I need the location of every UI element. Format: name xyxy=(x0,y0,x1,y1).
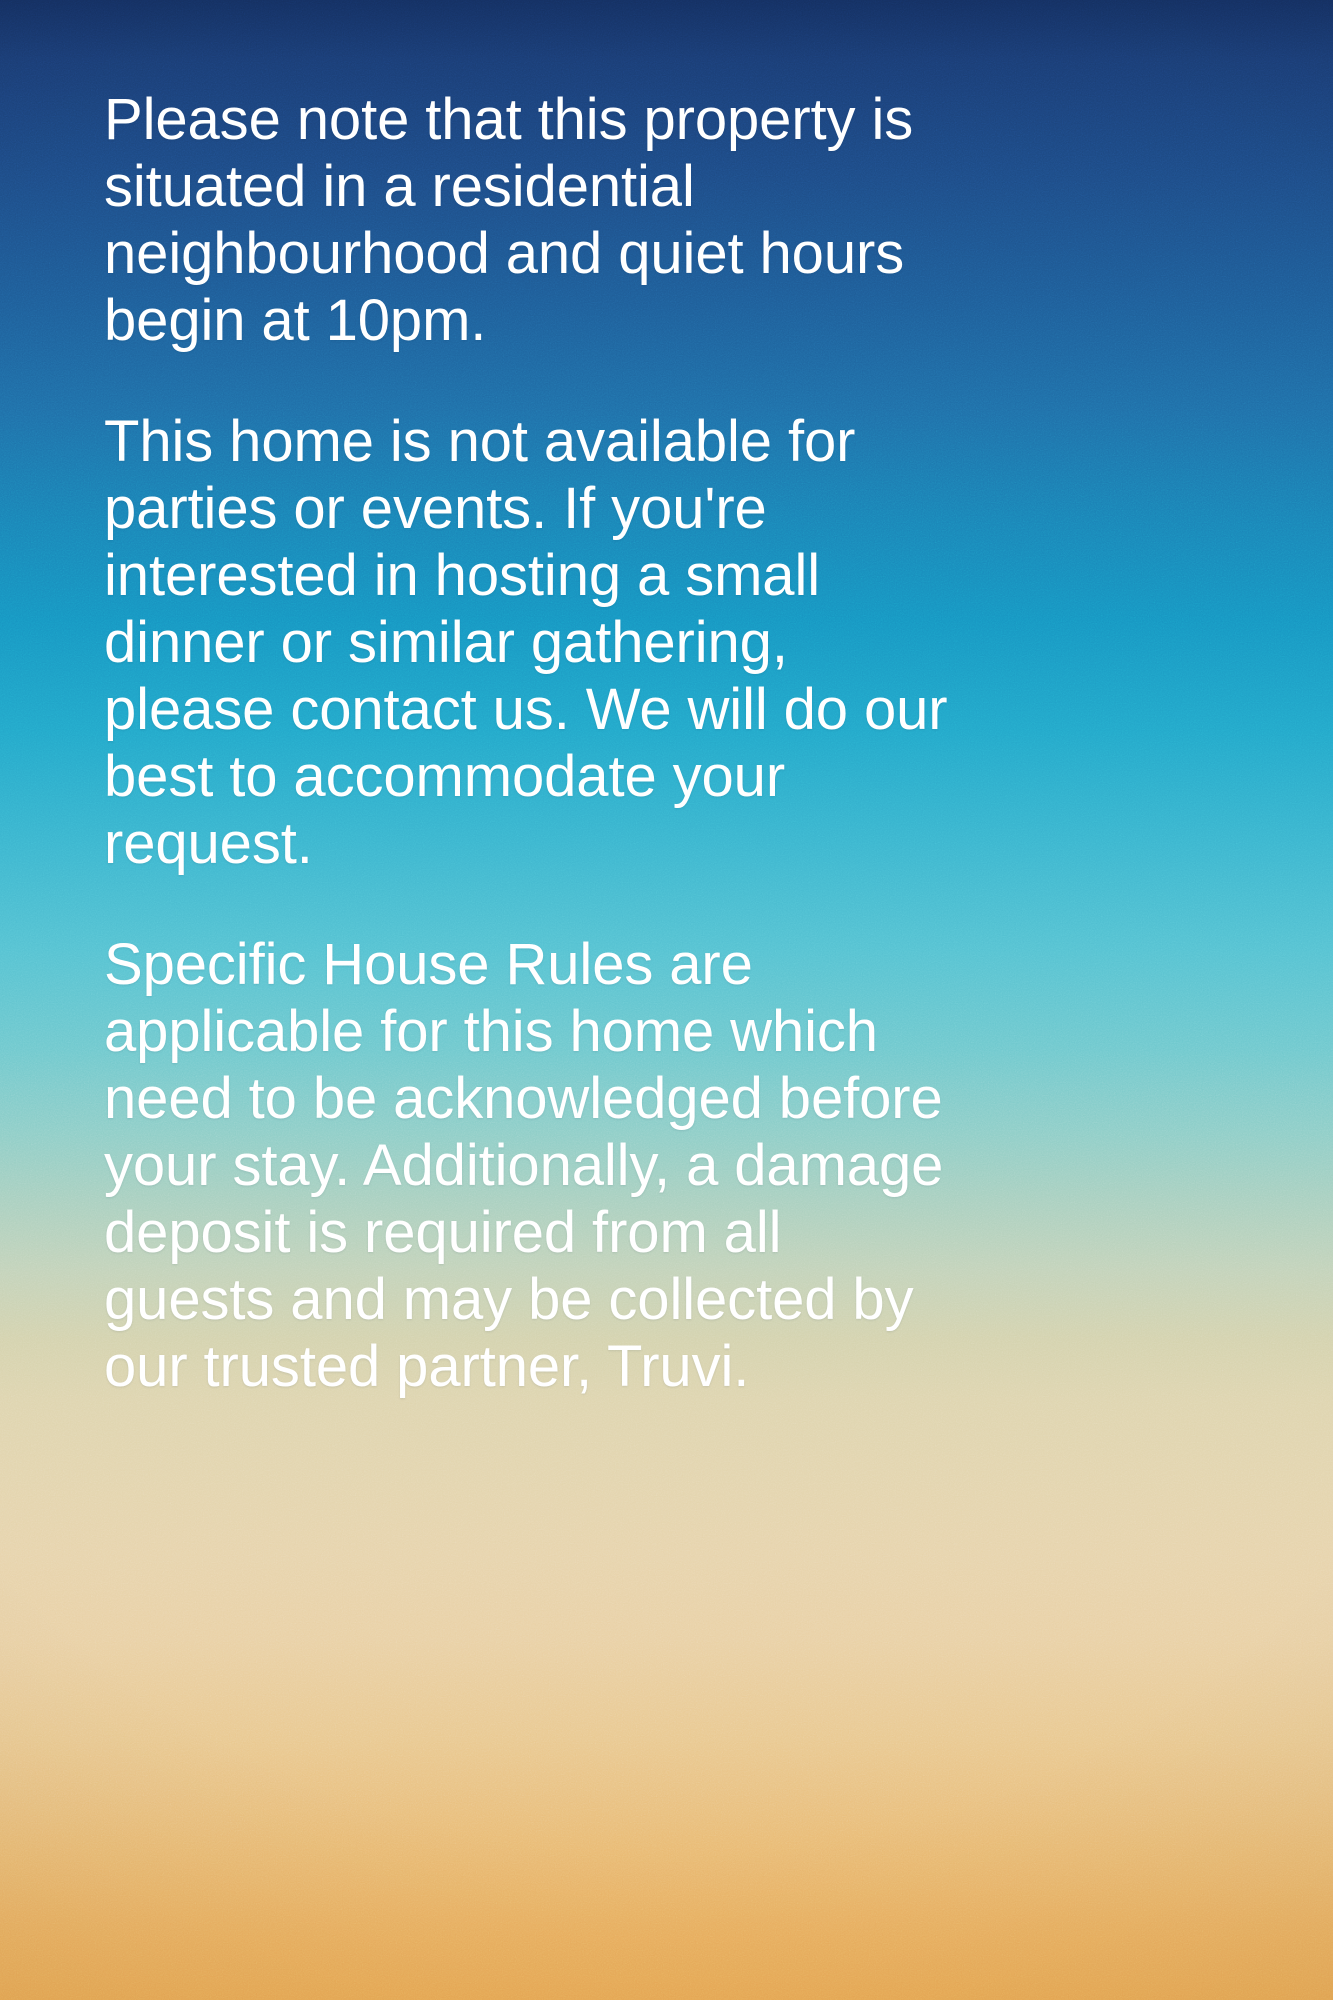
paragraph-quiet-hours: Please note that this property is situat… xyxy=(104,86,964,354)
paragraph-house-rules-deposit: Specific House Rules are applicable for … xyxy=(104,931,964,1400)
paragraph-no-parties: This home is not available for parties o… xyxy=(104,408,964,877)
house-rules-notice-card: Please note that this property is situat… xyxy=(0,0,1333,2000)
notice-text-block: Please note that this property is situat… xyxy=(104,86,964,1400)
